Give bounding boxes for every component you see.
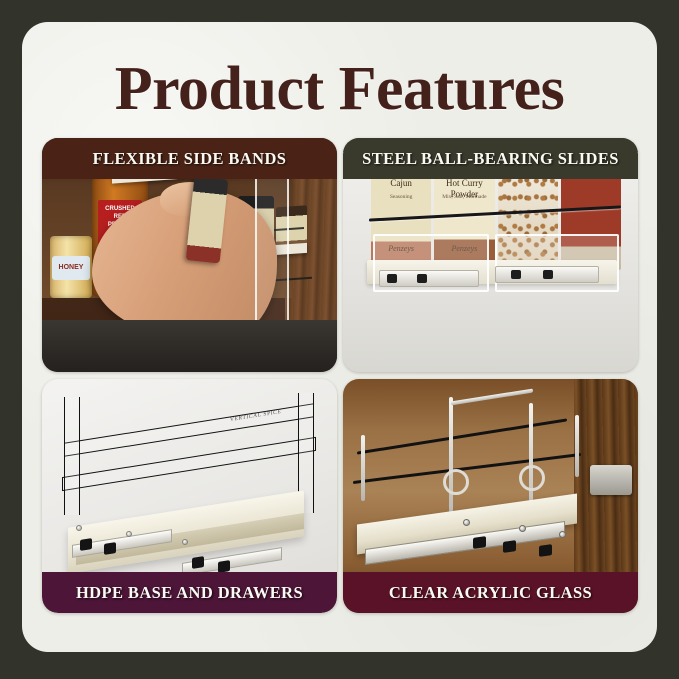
screw bbox=[559, 531, 566, 538]
ball-bearing-block bbox=[387, 274, 397, 283]
acrylic-side-band-right bbox=[495, 234, 619, 292]
retaining-wire-upper bbox=[357, 418, 567, 454]
honey-label: HONEY bbox=[52, 256, 90, 280]
panel-label-steel-ball-bearing-slides: STEEL BALL-BEARING SLIDES bbox=[343, 138, 638, 179]
ball-bearing-block bbox=[417, 274, 427, 283]
ball-bearing-block bbox=[473, 536, 486, 549]
ball-bearing-block bbox=[539, 544, 552, 557]
ball-bearing-block bbox=[80, 538, 92, 551]
panel-label-flexible-side-bands: FLEXIBLE SIDE BANDS bbox=[42, 138, 337, 179]
screw bbox=[519, 525, 526, 532]
ball-bearing-block bbox=[192, 556, 204, 569]
outer-frame: Product Features HONEY CRUSHEDREDPEPPER bbox=[0, 0, 679, 679]
panel-label-hdpe-base-and-drawers: HDPE BASE AND DRAWERS bbox=[42, 572, 337, 613]
screw bbox=[463, 519, 470, 526]
ball-bearing-block bbox=[218, 560, 230, 573]
jar-subtitle: Seasoning bbox=[371, 192, 431, 203]
acrylic-upright-far-right bbox=[575, 415, 579, 477]
feature-panel-steel-ball-bearing-slides[interactable]: Cajun Seasoning Penzeys Hot Curry Powder… bbox=[343, 138, 638, 372]
ball-bearing-block bbox=[104, 542, 116, 555]
cabinet-hinge bbox=[590, 465, 632, 495]
acrylic-band-hook-left bbox=[443, 469, 469, 495]
acrylic-top-rail bbox=[451, 389, 533, 406]
acrylic-band-hook-right bbox=[519, 465, 545, 491]
ball-bearing-block bbox=[503, 540, 516, 553]
feature-grid: HONEY CRUSHEDREDPEPPER bbox=[42, 138, 638, 630]
panel-label-clear-acrylic-glass: CLEAR ACRYLIC GLASS bbox=[343, 572, 638, 613]
acrylic-upright-left bbox=[449, 397, 453, 525]
screw bbox=[126, 531, 132, 537]
page-title: Product Features bbox=[22, 58, 657, 120]
acrylic-upright-far-left bbox=[361, 435, 365, 501]
jar-name: Cajun bbox=[371, 178, 431, 189]
infographic-card: Product Features HONEY CRUSHEDREDPEPPER bbox=[22, 22, 657, 652]
screw bbox=[76, 525, 82, 531]
feature-panel-hdpe-base-and-drawers[interactable]: VERTICAL SPICE HDPE BASE AND DRAWERS bbox=[42, 379, 337, 613]
feature-panel-flexible-side-bands[interactable]: HONEY CRUSHEDREDPEPPER bbox=[42, 138, 337, 372]
countertop bbox=[42, 320, 337, 372]
feature-panel-clear-acrylic-glass[interactable]: CLEAR ACRYLIC GLASS bbox=[343, 379, 638, 613]
ball-bearing-block bbox=[511, 270, 521, 279]
acrylic-side-left bbox=[64, 397, 80, 515]
screw bbox=[182, 539, 188, 545]
jar-subtitle: Mix, Salt, Marinade bbox=[434, 192, 494, 203]
ball-bearing-block bbox=[543, 270, 553, 279]
